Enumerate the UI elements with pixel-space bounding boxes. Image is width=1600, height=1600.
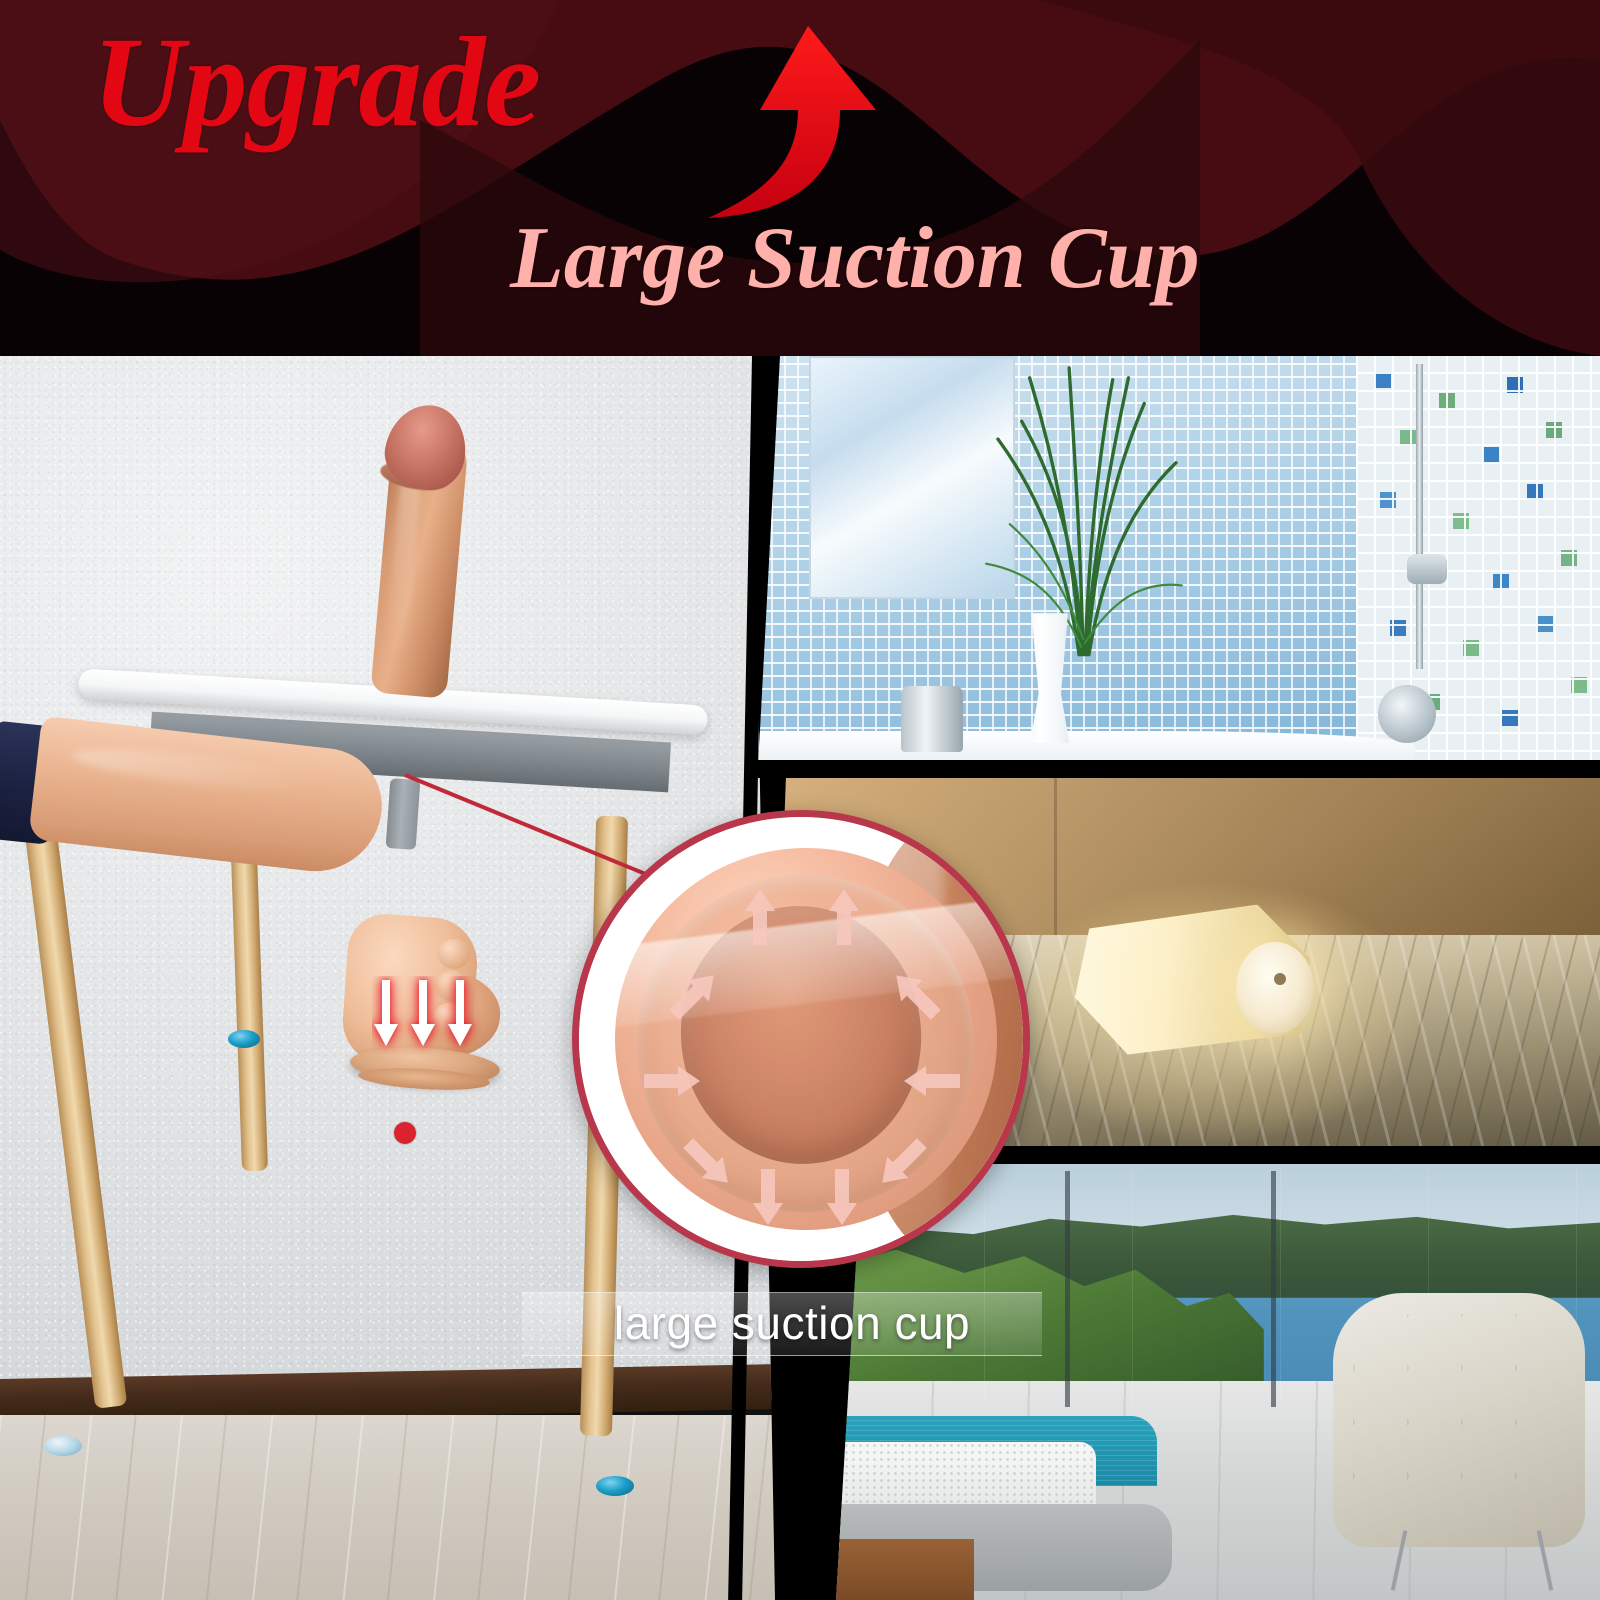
knuckle	[437, 938, 471, 970]
magnifier-suction-cup-closeup	[572, 810, 1030, 1268]
product-marketing-image: Upgrade Large Suction Cup	[0, 0, 1600, 1600]
shower-pipe	[1416, 364, 1423, 669]
banner-subtitle: Large Suction Cup	[510, 215, 1199, 303]
glass-post	[1271, 1171, 1276, 1408]
banner-title: Upgrade	[92, 18, 540, 146]
leg-cap-front-right	[596, 1476, 634, 1496]
panel-bathroom	[758, 356, 1600, 768]
lounge-chair	[1333, 1293, 1585, 1547]
header-banner: Upgrade Large Suction Cup	[0, 0, 1600, 356]
magnifier-caption: large suction cup	[562, 1295, 1022, 1351]
plant-reeds	[977, 360, 1187, 657]
shower-valve	[1407, 554, 1447, 584]
side-table-wood	[836, 1539, 974, 1600]
floor-laminate	[0, 1415, 775, 1600]
sink-faucet	[901, 686, 963, 752]
divider-horizontal-top	[758, 760, 1600, 778]
table-leg-bracket-right	[386, 778, 421, 850]
leg-cap-front-left	[44, 1436, 82, 1456]
press-down-arrows-icon	[372, 976, 482, 1054]
shower-dial	[1378, 685, 1436, 743]
lamp-end-cap	[1236, 942, 1314, 1034]
lamp-cap-hole	[1274, 973, 1286, 985]
glass-post	[1065, 1171, 1070, 1408]
curved-up-arrow-icon	[690, 22, 900, 222]
suction-force-arrows-icon	[579, 817, 1023, 1261]
